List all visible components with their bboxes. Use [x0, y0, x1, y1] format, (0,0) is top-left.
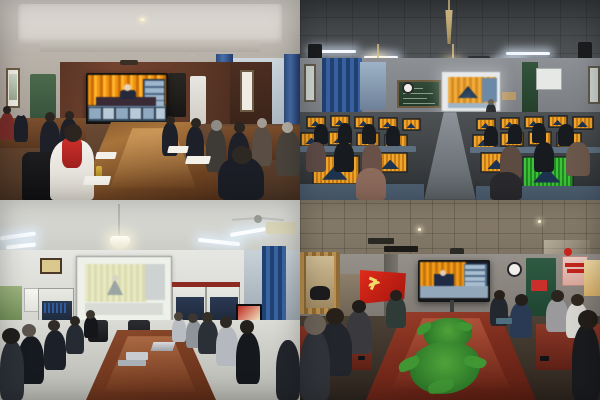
broadcast-speaker-head — [124, 84, 131, 91]
attendee-foreground — [0, 340, 24, 400]
student-monitor — [402, 118, 421, 131]
wall-plaque — [502, 92, 516, 100]
student — [566, 142, 590, 176]
attendee-head — [2, 328, 20, 344]
collage-photo-top-left — [0, 0, 300, 200]
student — [534, 142, 554, 172]
attendee-head — [22, 324, 36, 337]
collage-photo-bottom-left — [0, 200, 300, 400]
broadcast-tile-strip — [420, 286, 488, 298]
wall-painting — [40, 258, 62, 274]
collage-photo-bottom-right — [300, 200, 600, 400]
attendee — [0, 112, 14, 140]
document — [185, 156, 211, 164]
broadcast-speaker-head — [440, 270, 446, 276]
attendee-head — [191, 118, 201, 128]
attendee-head — [48, 320, 60, 331]
window-curtain — [322, 58, 362, 116]
wall-emblem — [564, 248, 572, 256]
water-dispenser — [190, 76, 206, 124]
hammer-sickle-emblem — [368, 278, 381, 291]
wall-painting — [240, 70, 254, 112]
fluorescent-light — [506, 52, 550, 55]
attendee-head — [70, 316, 80, 326]
window-curtain — [262, 246, 286, 322]
window — [360, 62, 386, 110]
laptop — [151, 342, 176, 351]
student — [532, 123, 546, 143]
attendee-foreground — [276, 340, 300, 400]
wall-painting — [6, 68, 20, 108]
wall-object — [310, 286, 330, 300]
ceiling-fan-hub — [254, 215, 262, 223]
attendee-head — [551, 290, 564, 302]
attendee-head — [3, 106, 11, 114]
student — [334, 142, 354, 172]
attendee-head — [578, 310, 598, 329]
broadcast-tile — [115, 107, 129, 120]
ceiling-vent — [384, 246, 418, 252]
attendee-head — [211, 120, 222, 131]
attendee — [14, 114, 28, 142]
ceiling-camera — [120, 60, 138, 65]
tv-display — [420, 262, 488, 298]
attendee-head — [282, 122, 293, 133]
attendee-head — [174, 312, 183, 321]
desk-microphone — [496, 318, 512, 324]
student-foreground — [490, 172, 522, 200]
attendee-head — [240, 320, 254, 334]
attendee-red-scarf — [62, 138, 82, 168]
collage-photo-top-right — [300, 0, 600, 200]
attendee — [216, 326, 238, 366]
wall-painting — [304, 64, 316, 102]
ceiling-lip — [40, 40, 260, 52]
attendee-head — [257, 118, 267, 128]
wall-poster — [584, 260, 600, 296]
broadcast-video-tiles — [464, 264, 487, 286]
photo-collage — [0, 0, 600, 400]
window-curtain — [284, 54, 300, 128]
attendee-foreground — [300, 330, 330, 400]
attendee-head — [65, 111, 74, 120]
cabinet-top-trim — [172, 282, 240, 287]
document — [83, 176, 111, 185]
ceiling-light — [538, 220, 541, 223]
student-monitor — [572, 116, 594, 130]
attendee-head — [232, 146, 252, 164]
broadcast-tile — [129, 107, 142, 120]
pendant-rod — [118, 204, 120, 238]
student — [484, 126, 498, 146]
wall-clock — [507, 262, 522, 277]
attendee-head — [326, 308, 344, 325]
attendee-head — [352, 300, 366, 313]
student — [314, 124, 328, 144]
attendee-head — [304, 314, 326, 335]
ceiling-recess — [18, 4, 282, 44]
document — [95, 152, 117, 159]
speaker-cabinet — [168, 73, 186, 117]
document — [167, 146, 189, 153]
attendee-head — [45, 112, 55, 122]
broadcast-tile — [155, 107, 166, 120]
air-conditioner — [266, 222, 296, 234]
attendee — [198, 320, 218, 354]
student — [306, 142, 326, 172]
attendee — [236, 332, 260, 384]
broadcast-speaker-head — [112, 275, 118, 281]
attendee — [66, 324, 84, 354]
attendee — [44, 330, 66, 370]
attendee-head — [494, 290, 505, 300]
attendee-head — [64, 124, 82, 142]
ceiling-light — [418, 228, 421, 231]
wall-notice-board — [536, 68, 562, 90]
desk-equipment — [118, 360, 146, 366]
attendee — [510, 302, 532, 338]
student — [362, 124, 376, 144]
broadcast-tile — [142, 107, 155, 120]
student — [338, 123, 352, 143]
attendee-head — [390, 290, 402, 301]
window — [306, 256, 334, 308]
ceiling-vent — [368, 238, 394, 244]
attendee-head — [571, 294, 584, 306]
attendee-head — [515, 294, 528, 306]
mobile-phone — [540, 356, 549, 361]
attendee-head — [220, 316, 232, 328]
attendee-head — [188, 313, 198, 323]
instructor-head — [488, 99, 494, 105]
attendee-head — [234, 122, 245, 133]
student — [386, 126, 400, 146]
broadcast-video-tiles — [145, 264, 165, 300]
attendee-head — [166, 116, 175, 125]
attendee-head — [202, 312, 213, 323]
student — [508, 124, 522, 144]
led-screen-display — [88, 75, 166, 121]
attendee-head — [86, 310, 95, 319]
broadcast-speaker-body — [120, 90, 136, 99]
attendee — [172, 318, 186, 342]
wall-clock — [402, 82, 414, 94]
wall-painting — [588, 66, 600, 104]
student-foreground — [356, 168, 386, 200]
ceiling-spotlight — [140, 18, 145, 21]
broadcast-tile — [88, 107, 102, 120]
attendee — [546, 298, 568, 332]
mobile-phone — [358, 356, 365, 360]
attendee-head — [17, 108, 25, 116]
attendee — [84, 316, 98, 338]
attendee — [276, 130, 300, 176]
broadcast-tile-strip — [85, 303, 163, 315]
attendee-foreground — [572, 324, 600, 400]
broadcast-tile — [102, 107, 115, 120]
desk-equipment — [126, 352, 148, 360]
